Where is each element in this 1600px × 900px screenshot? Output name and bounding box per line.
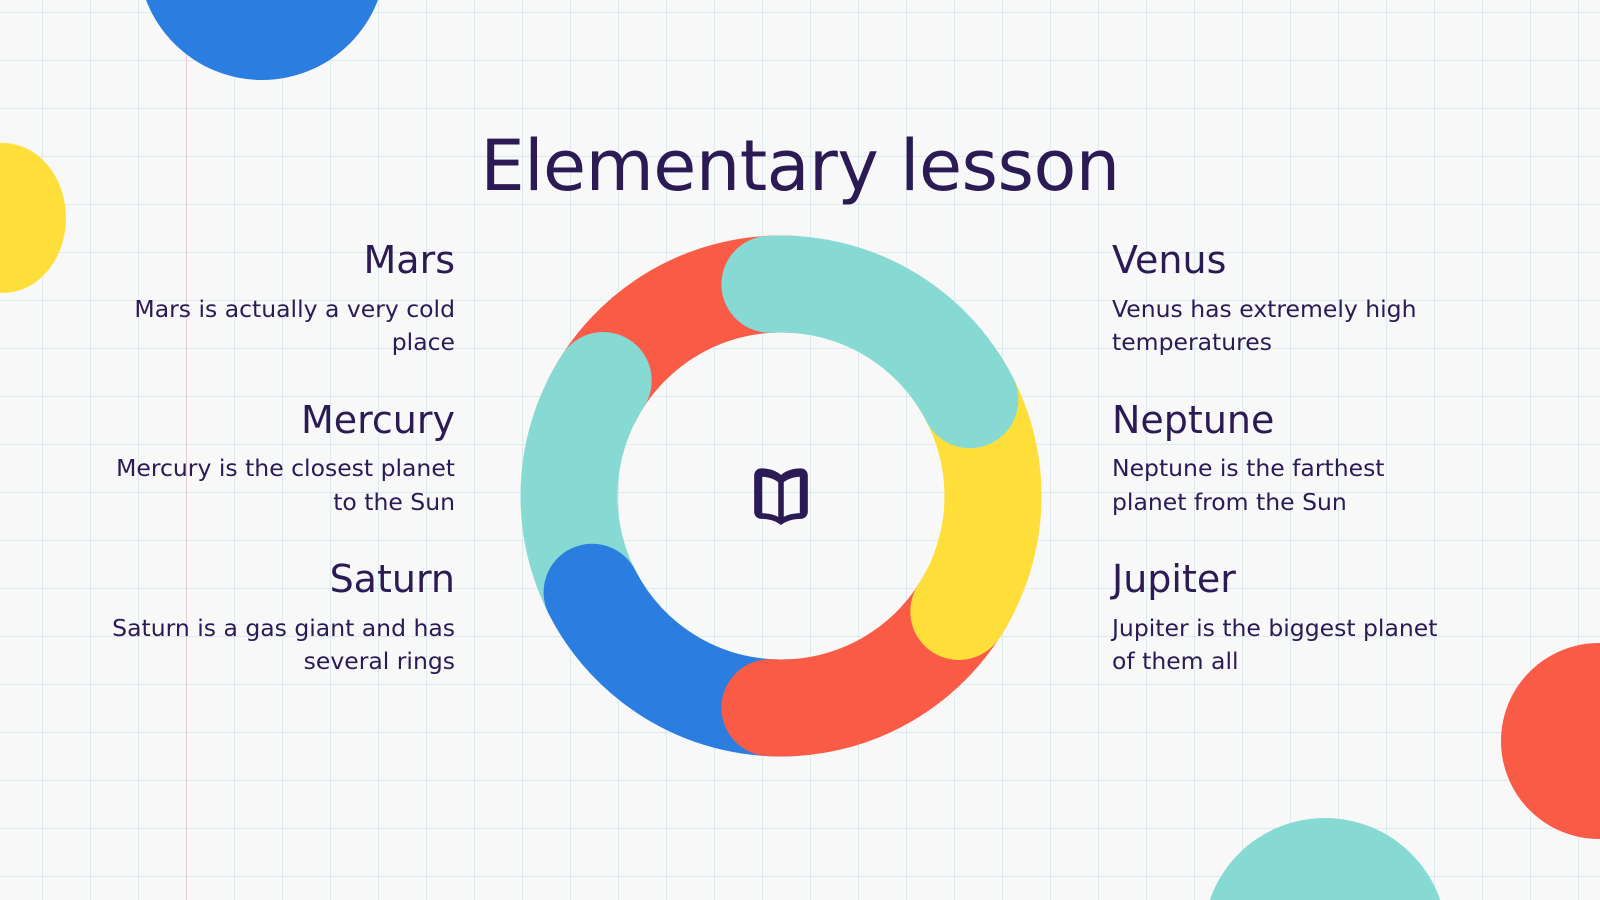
donut-segment-venus[interactable]: [770, 284, 970, 400]
planet-description-saturn: Saturn is a gas giant and has several ri…: [103, 612, 455, 679]
planet-description-mars: Mars is actually a very cold place: [103, 293, 455, 360]
planet-title-jupiter: Jupiter: [1112, 557, 1464, 602]
planet-entry-neptune: Neptune Neptune is the farthest planet f…: [1112, 398, 1464, 520]
planet-description-jupiter: Jupiter is the biggest planet of them al…: [1112, 612, 1464, 679]
right-text-column: Venus Venus has extremely high temperatu…: [1112, 238, 1464, 679]
open-book-icon: [744, 459, 818, 533]
donut-chart: [500, 215, 1062, 777]
planet-entry-saturn: Saturn Saturn is a gas giant and has sev…: [103, 557, 455, 679]
planet-description-venus: Venus has extremely high temperatures: [1112, 293, 1464, 360]
left-text-column: Mars Mars is actually a very cold place …: [103, 238, 455, 679]
planet-title-mercury: Mercury: [103, 398, 455, 443]
planet-title-saturn: Saturn: [103, 557, 455, 602]
planet-description-mercury: Mercury is the closest planet to the Sun: [103, 452, 455, 519]
slide-canvas: Elementary lesson Mars Mars is actually …: [0, 0, 1600, 900]
planet-title-venus: Venus: [1112, 238, 1464, 283]
planet-entry-mercury: Mercury Mercury is the closest planet to…: [103, 398, 455, 520]
planet-description-neptune: Neptune is the farthest planet from the …: [1112, 452, 1464, 519]
page-title: Elementary lesson: [0, 125, 1600, 207]
planet-title-mars: Mars: [103, 238, 455, 283]
planet-entry-mars: Mars Mars is actually a very cold place: [103, 238, 455, 360]
planet-entry-venus: Venus Venus has extremely high temperatu…: [1112, 238, 1464, 360]
planet-title-neptune: Neptune: [1112, 398, 1464, 443]
planet-entry-jupiter: Jupiter Jupiter is the biggest planet of…: [1112, 557, 1464, 679]
